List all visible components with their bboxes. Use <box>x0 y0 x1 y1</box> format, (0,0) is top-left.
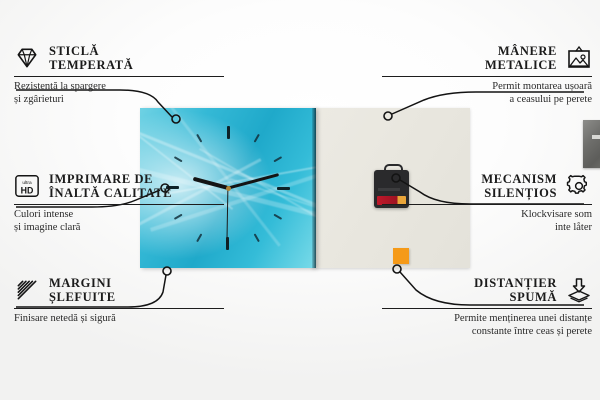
feature-high-quality-print[interactable]: ultra HD IMPRIMARE DE ÎNALTĂ CALITATE Cu… <box>14 172 224 234</box>
feature-header: STICLĂ TEMPERATĂ <box>14 44 224 72</box>
divider <box>382 308 592 309</box>
feature-title-line1: DISTANȚIER <box>474 276 557 290</box>
feature-desc-line2: a ceasului pe perete <box>382 94 592 107</box>
feature-title-line2: TEMPERATĂ <box>49 58 133 72</box>
clock-center-pin <box>226 186 231 191</box>
diamond-icon <box>14 45 40 71</box>
feature-title-line1: MÂNERE <box>485 44 557 58</box>
ultra-hd-badge-icon: ultra HD <box>14 173 40 199</box>
feature-metal-hangers[interactable]: MÂNERE METALICE Permit montarea ușoară a… <box>382 44 592 106</box>
feature-header: MECANISM SILENȚIOS <box>382 172 592 200</box>
feature-desc-line1: Klockvisare som <box>382 209 592 222</box>
feature-foam-spacer[interactable]: DISTANȚIER SPUMĂ Permite menținerea unei… <box>382 276 592 338</box>
divider <box>382 204 592 205</box>
feature-desc-line2: și zgârieturi <box>14 94 224 107</box>
polished-edges-icon <box>14 277 40 303</box>
infographic-stage: STICLĂ TEMPERATĂ Rezistentă la spargere … <box>0 0 600 400</box>
feature-desc-line1: Finisare netedă și sigură <box>14 313 224 326</box>
feature-header: MARGINI ȘLEFUITE <box>14 276 224 304</box>
feature-title-line2: SPUMĂ <box>474 290 557 304</box>
divider <box>14 308 224 309</box>
feature-polished-edges[interactable]: MARGINI ȘLEFUITE Finisare netedă și sigu… <box>14 276 224 326</box>
feature-desc-line2: și imagine clară <box>14 222 224 235</box>
feature-description: Rezistentă la spargere și zgârieturi <box>14 81 224 106</box>
divider <box>382 76 592 77</box>
feature-header: DISTANȚIER SPUMĂ <box>382 276 592 304</box>
feature-title: MECANISM SILENȚIOS <box>481 172 557 200</box>
divider <box>14 76 224 77</box>
feature-title-line1: MARGINI <box>49 276 116 290</box>
feature-header: ultra HD IMPRIMARE DE ÎNALTĂ CALITATE <box>14 172 224 200</box>
feature-silent-mechanism[interactable]: MECANISM SILENȚIOS Klockvisare som inte … <box>382 172 592 234</box>
divider <box>14 204 224 205</box>
feature-title: MÂNERE METALICE <box>485 44 557 72</box>
feature-desc-line1: Culori intense <box>14 209 224 222</box>
gear-icon <box>566 173 592 199</box>
feature-title: DISTANȚIER SPUMĂ <box>474 276 557 304</box>
glass-edge <box>312 108 316 268</box>
feature-title-line2: ȘLEFUITE <box>49 290 116 304</box>
feature-title-line1: MECANISM <box>481 172 557 186</box>
feature-desc-line1: Permite menținerea unei distanțe <box>382 313 592 326</box>
feature-description: Klockvisare som inte låter <box>382 209 592 234</box>
metal-hanger-plate <box>583 120 600 168</box>
feature-title-line1: IMPRIMARE DE <box>49 172 172 186</box>
feature-title: IMPRIMARE DE ÎNALTĂ CALITATE <box>49 172 172 200</box>
feature-desc-line2: inte låter <box>382 222 592 235</box>
hanger-slot-left <box>592 135 600 139</box>
picture-hanger-icon <box>566 45 592 71</box>
svg-text:HD: HD <box>21 185 34 195</box>
feature-description: Permit montarea ușoară a ceasului pe per… <box>382 81 592 106</box>
feature-title-line2: SILENȚIOS <box>481 186 557 200</box>
feature-description: Culori intense și imagine clară <box>14 209 224 234</box>
feature-description: Finisare netedă și sigură <box>14 313 224 326</box>
foam-spacer <box>393 248 409 264</box>
feature-desc-line1: Permit montarea ușoară <box>382 81 592 94</box>
feature-desc-line1: Rezistentă la spargere <box>14 81 224 94</box>
feature-title: STICLĂ TEMPERATĂ <box>49 44 133 72</box>
feature-tempered-glass[interactable]: STICLĂ TEMPERATĂ Rezistentă la spargere … <box>14 44 224 106</box>
feature-header: MÂNERE METALICE <box>382 44 592 72</box>
feature-title-line2: ÎNALTĂ CALITATE <box>49 186 172 200</box>
feature-title: MARGINI ȘLEFUITE <box>49 276 116 304</box>
feature-desc-line2: constante între ceas și perete <box>382 326 592 339</box>
foam-spacer-arrow-icon <box>566 277 592 303</box>
feature-description: Permite menținerea unei distanțe constan… <box>382 313 592 338</box>
feature-title-line2: METALICE <box>485 58 557 72</box>
feature-title-line1: STICLĂ <box>49 44 133 58</box>
